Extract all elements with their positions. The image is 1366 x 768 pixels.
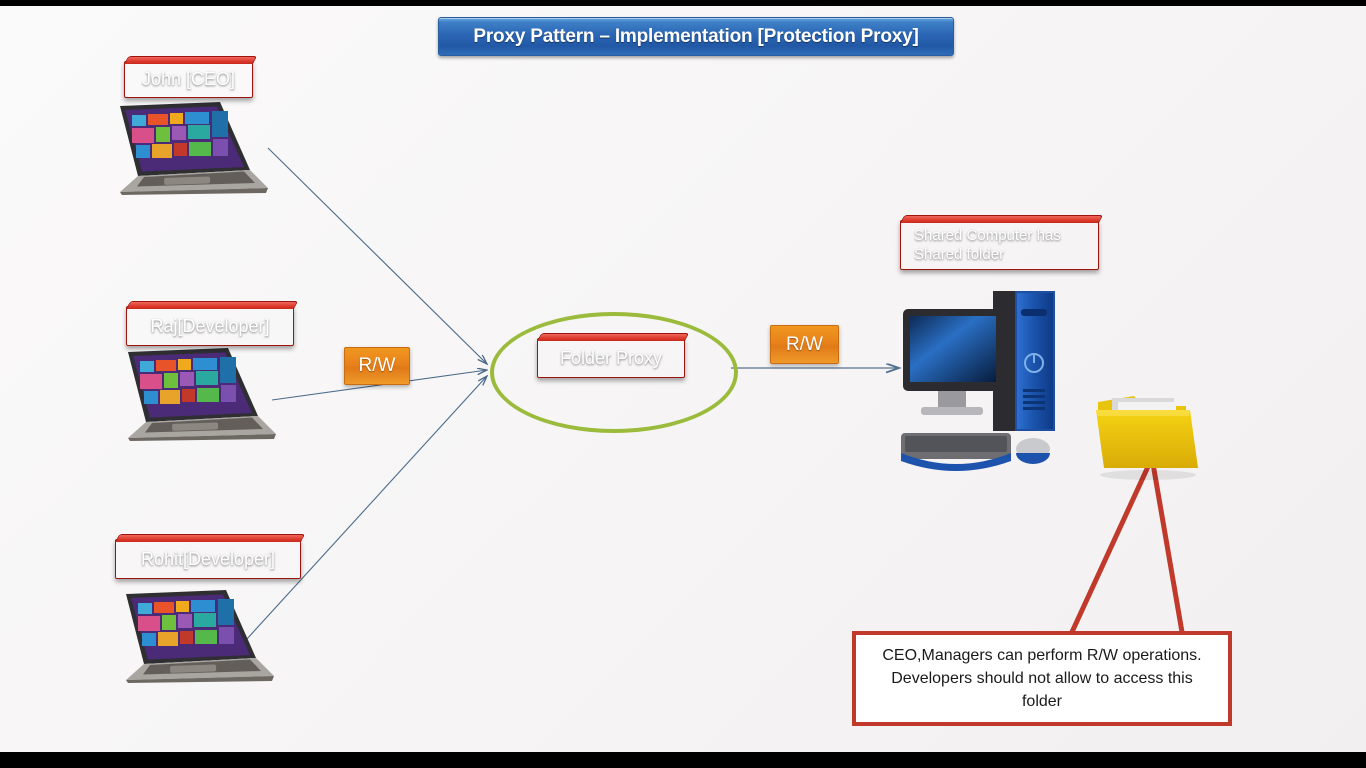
laptop-icon-rohit bbox=[98, 586, 278, 684]
label-folder-proxy[interactable]: Folder Proxy bbox=[537, 338, 685, 378]
shared-label-line2: Shared folder bbox=[914, 246, 1004, 263]
label-shared-computer-text: Shared Computer has Shared folder bbox=[914, 226, 1098, 264]
laptop-icon-john bbox=[92, 98, 272, 196]
letterbox-bottom bbox=[0, 752, 1366, 768]
desktop-computer-icon bbox=[893, 283, 1083, 483]
shared-label-line1: Shared Computer has bbox=[914, 227, 1061, 244]
label-shared-computer[interactable]: Shared Computer has Shared folder bbox=[900, 220, 1099, 270]
callout-permissions-note: CEO,Managers can perform R/W operations.… bbox=[852, 631, 1232, 726]
badge-rw-left[interactable]: R/W bbox=[344, 347, 410, 385]
callout-line1: CEO,Managers can perform R/W operations. bbox=[882, 647, 1201, 664]
label-rohit-developer[interactable]: Rohit[Developer] bbox=[115, 539, 301, 579]
page-title-text: Proxy Pattern – Implementation [Protecti… bbox=[473, 26, 918, 48]
badge-rw-right-text: R/W bbox=[786, 334, 823, 356]
label-john-ceo-text: John [CEO] bbox=[125, 69, 252, 90]
label-rohit-developer-text: Rohit[Developer] bbox=[116, 549, 300, 570]
badge-rw-left-text: R/W bbox=[359, 355, 396, 377]
callout-line3: folder bbox=[1022, 693, 1062, 710]
callout-text: CEO,Managers can perform R/W operations.… bbox=[868, 644, 1215, 713]
callout-line2: Developers should not allow to access th… bbox=[891, 670, 1193, 687]
label-folder-proxy-text: Folder Proxy bbox=[538, 348, 684, 369]
label-raj-developer[interactable]: Raj[Developer] bbox=[126, 306, 294, 346]
letterbox-top bbox=[0, 0, 1366, 6]
folder-icon bbox=[1090, 380, 1208, 483]
label-john-ceo[interactable]: John [CEO] bbox=[124, 61, 253, 98]
slide-canvas: Proxy Pattern – Implementation [Protecti… bbox=[0, 0, 1366, 768]
page-title: Proxy Pattern – Implementation [Protecti… bbox=[438, 17, 954, 56]
label-raj-developer-text: Raj[Developer] bbox=[127, 316, 293, 337]
badge-rw-right[interactable]: R/W bbox=[770, 325, 839, 364]
laptop-icon-raj bbox=[100, 344, 280, 442]
